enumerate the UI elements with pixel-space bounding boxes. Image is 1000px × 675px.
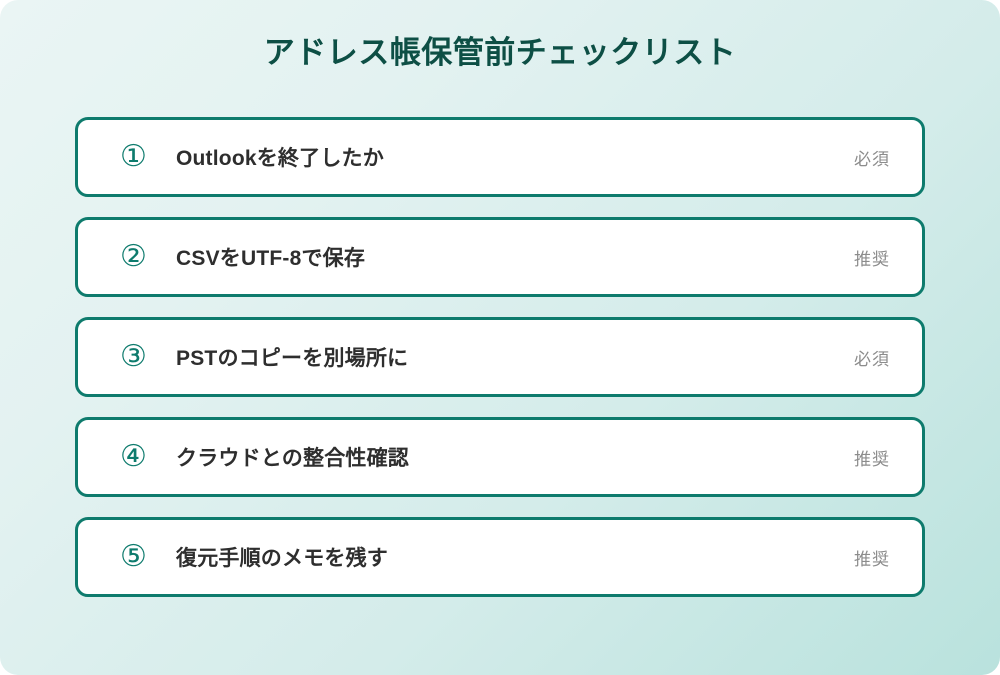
checklist-item-3[interactable]: ③ PSTのコピーを別場所に 必須: [75, 317, 925, 397]
status-badge: 必須: [854, 145, 894, 170]
checklist-item-label: CSVをUTF-8で保存: [176, 242, 854, 272]
status-badge: 必須: [854, 345, 894, 370]
page-title: アドレス帳保管前チェックリスト: [0, 34, 1000, 71]
circled-number-icon: ②: [120, 242, 176, 272]
status-badge: 推奨: [854, 445, 894, 470]
checklist-items: ① Outlookを終了したか 必須 ② CSVをUTF-8で保存 推奨 ③ P…: [75, 117, 925, 597]
circled-number-icon: ④: [120, 442, 176, 472]
checklist-item-4[interactable]: ④ クラウドとの整合性確認 推奨: [75, 417, 925, 497]
checklist-item-label: Outlookを終了したか: [176, 142, 854, 172]
checklist-item-2[interactable]: ② CSVをUTF-8で保存 推奨: [75, 217, 925, 297]
checklist-item-label: クラウドとの整合性確認: [176, 442, 854, 472]
status-badge: 推奨: [854, 245, 894, 270]
checklist-infographic: アドレス帳保管前チェックリスト ① Outlookを終了したか 必須 ② CSV…: [0, 0, 1000, 675]
status-badge: 推奨: [854, 545, 894, 570]
checklist-item-label: 復元手順のメモを残す: [176, 542, 854, 572]
checklist-item-1[interactable]: ① Outlookを終了したか 必須: [75, 117, 925, 197]
circled-number-icon: ①: [120, 142, 176, 172]
circled-number-icon: ⑤: [120, 542, 176, 572]
circled-number-icon: ③: [120, 342, 176, 372]
checklist-item-label: PSTのコピーを別場所に: [176, 342, 854, 372]
checklist-item-5[interactable]: ⑤ 復元手順のメモを残す 推奨: [75, 517, 925, 597]
